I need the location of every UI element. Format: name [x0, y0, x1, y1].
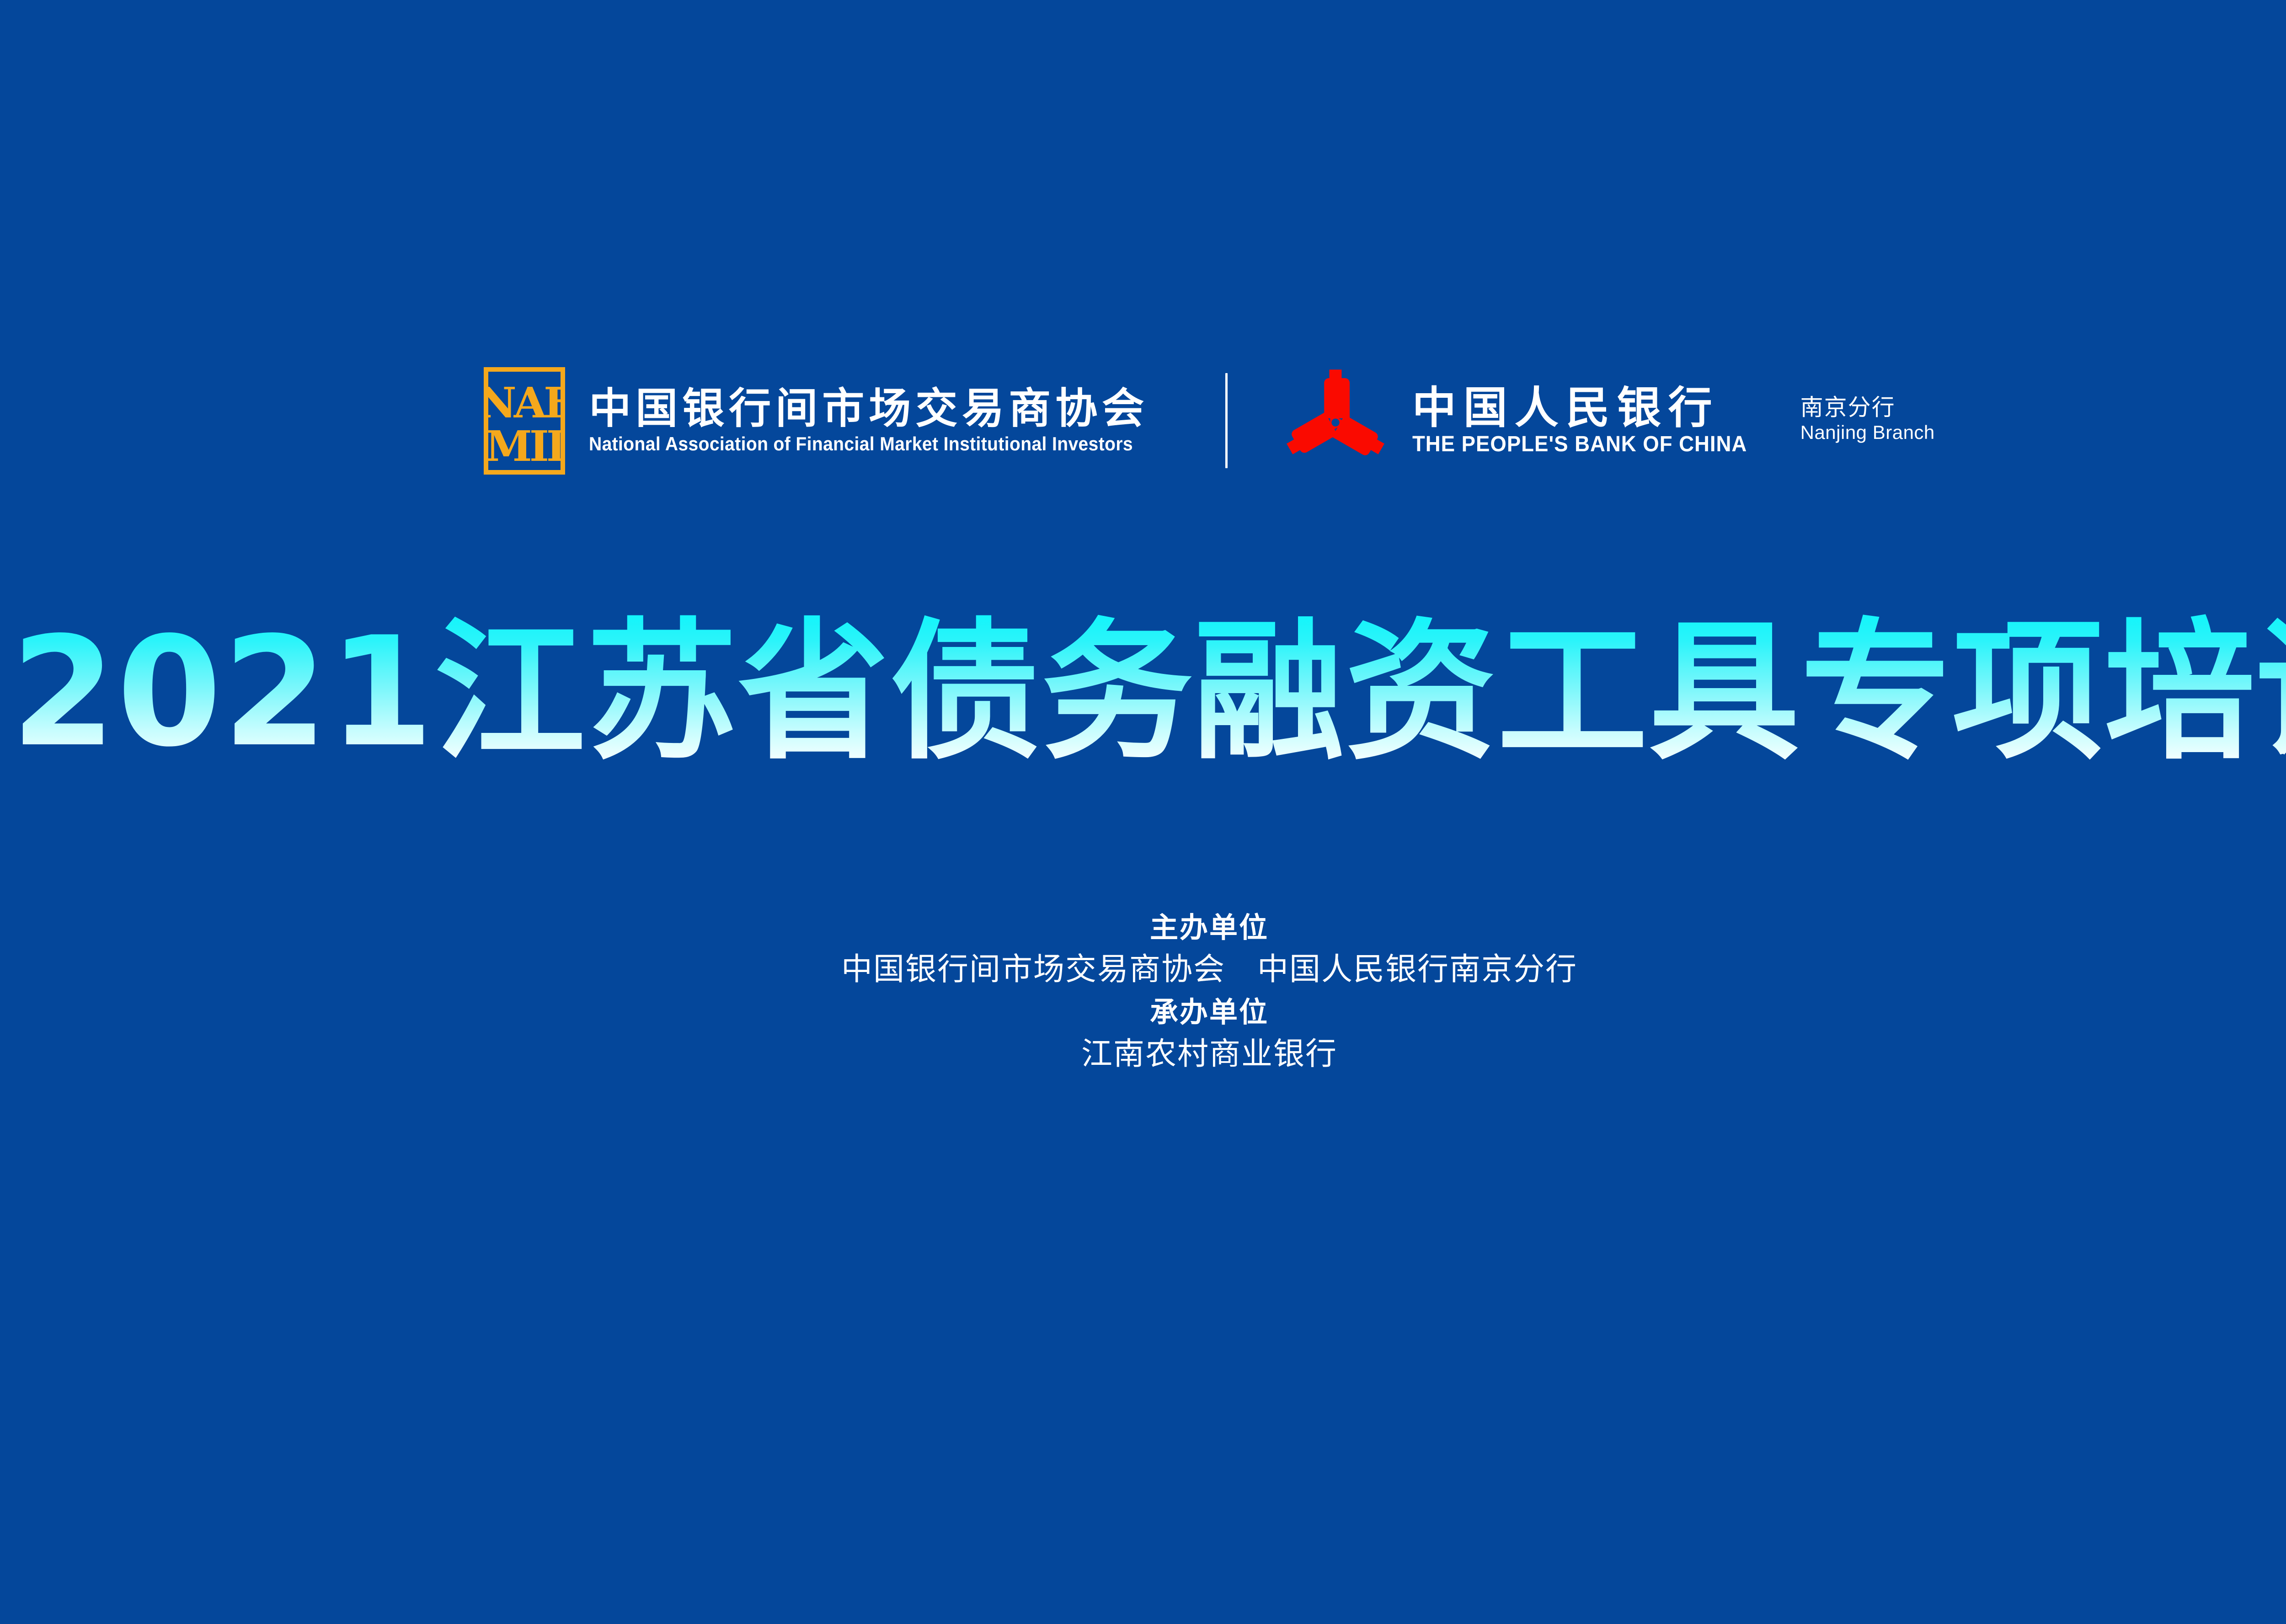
pboc-wordmark: 中国人民银行 THE PEOPLE'S BANK OF CHINA: [1412, 385, 1765, 456]
page-title: 2021江苏省债务融资工具专项培训: [0, 611, 2286, 774]
logo-bar: NAF MII 中国银行间市场交易商协会 National Associatio…: [0, 352, 2286, 489]
organizer-label: 承办单位: [0, 992, 2286, 1032]
pboc-branch-label: 南京分行 Nanjing Branch: [1800, 394, 1935, 447]
organizers-block: 主办单位 中国银行间市场交易商协会 中国人民银行南京分行 承办单位 江南农村商业…: [0, 908, 2286, 1076]
host-names: 中国银行间市场交易商协会 中国人民银行南京分行: [0, 948, 2286, 992]
pboc-name-cn: 中国人民银行: [1412, 385, 1765, 431]
svg-text:MII: MII: [486, 422, 564, 471]
logo-divider: [1225, 373, 1228, 468]
nafmii-name-en: National Association of Financial Market…: [589, 433, 1133, 454]
nafmii-emblem-icon: NAF MII: [484, 367, 565, 475]
pboc-branch-cn: 南京分行: [1800, 394, 1935, 421]
pboc-branch-en: Nanjing Branch: [1800, 421, 1935, 444]
organizer-names: 江南农村商业银行: [0, 1032, 2286, 1077]
pboc-emblem-icon: [1279, 363, 1392, 478]
pboc-name-en: THE PEOPLE'S BANK OF CHINA: [1412, 433, 1747, 456]
svg-text:NAF: NAF: [484, 378, 565, 427]
nafmii-logo-lockup: NAF MII 中国银行间市场交易商协会 National Associatio…: [484, 367, 1174, 475]
nafmii-wordmark: 中国银行间市场交易商协会 National Association of Fin…: [589, 387, 1174, 455]
nafmii-name-cn: 中国银行间市场交易商协会: [589, 387, 1174, 431]
pboc-logo-lockup: 中国人民银行 THE PEOPLE'S BANK OF CHINA 南京分行 N…: [1279, 363, 1935, 478]
host-label: 主办单位: [0, 908, 2286, 948]
